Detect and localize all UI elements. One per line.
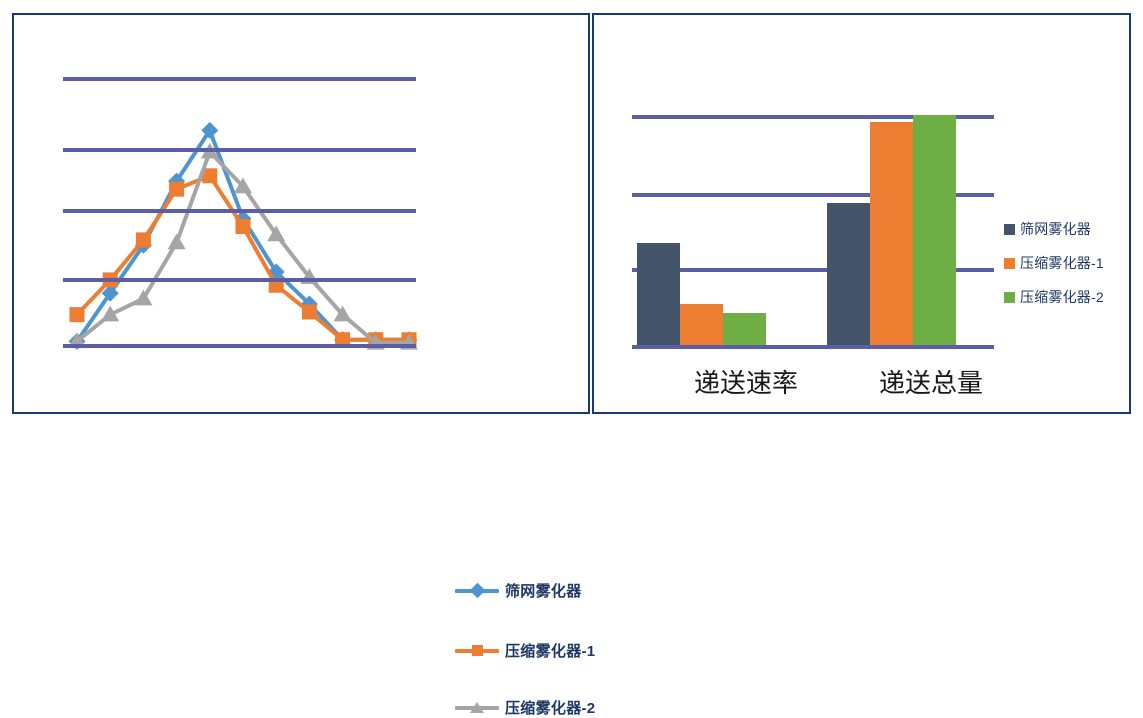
gridline <box>63 77 416 81</box>
category-label: 递送速率 <box>694 363 798 400</box>
data-point-marker <box>134 290 152 306</box>
bar-chart-panel: 递送速率递送总量 筛网雾化器压缩雾化器-1压缩雾化器-2 <box>592 13 1131 414</box>
bar-column[interactable] <box>913 115 956 345</box>
line-chart-series-layer <box>14 15 580 412</box>
legend-swatch <box>455 698 499 718</box>
legend-item[interactable]: 压缩雾化器-2 <box>1004 287 1104 307</box>
series-line <box>77 176 409 340</box>
legend-color-swatch <box>1004 258 1015 269</box>
data-point-marker <box>136 232 151 247</box>
data-point-marker <box>168 234 186 250</box>
legend-swatch <box>455 581 499 601</box>
legend-marker-square-icon <box>472 645 483 656</box>
legend-label: 压缩雾化器-2 <box>1020 287 1104 307</box>
legend-swatch <box>455 641 499 661</box>
x-axis-line <box>632 345 994 349</box>
legend-marker-triangle-icon <box>470 702 484 713</box>
legend-label: 压缩雾化器-1 <box>1020 253 1104 273</box>
legend-color-swatch <box>1004 292 1015 303</box>
line-series <box>69 122 418 350</box>
line-series <box>70 168 417 347</box>
bar-chart-plot-area: 递送速率递送总量 筛网雾化器压缩雾化器-1压缩雾化器-2 <box>594 15 1129 412</box>
bar-column[interactable] <box>827 203 870 345</box>
bar-column[interactable] <box>870 122 913 345</box>
legend-item[interactable]: 压缩雾化器-1 <box>455 640 595 661</box>
line-chart-plot-area: 筛网雾化器压缩雾化器-1压缩雾化器-2 <box>14 15 588 412</box>
legend-label: 筛网雾化器 <box>1020 219 1091 239</box>
gridline <box>63 209 416 213</box>
legend-color-swatch <box>1004 224 1015 235</box>
gridline <box>63 148 416 152</box>
bar-column[interactable] <box>723 313 766 345</box>
legend-item[interactable]: 筛网雾化器 <box>1004 219 1091 239</box>
data-point-marker <box>169 182 184 197</box>
category-label: 递送总量 <box>879 363 983 400</box>
data-point-marker <box>302 304 317 319</box>
figure-canvas: 筛网雾化器压缩雾化器-1压缩雾化器-2 递送速率递送总量 筛网雾化器压缩雾化器-… <box>0 0 1143 426</box>
legend-item[interactable]: 压缩雾化器-2 <box>455 697 595 718</box>
legend-label: 压缩雾化器-1 <box>505 640 595 661</box>
data-point-marker <box>70 307 85 322</box>
legend-item[interactable]: 压缩雾化器-1 <box>1004 253 1104 273</box>
gridline <box>63 344 416 348</box>
bar-column[interactable] <box>680 304 723 345</box>
legend-label: 压缩雾化器-2 <box>505 697 595 718</box>
line-chart-panel: 筛网雾化器压缩雾化器-1压缩雾化器-2 <box>12 13 590 414</box>
bar-column[interactable] <box>637 243 680 345</box>
data-point-marker <box>236 219 251 234</box>
gridline <box>63 278 416 282</box>
legend-item[interactable]: 筛网雾化器 <box>455 580 582 601</box>
line-series <box>68 143 418 350</box>
series-line <box>77 130 409 341</box>
legend-marker-diamond-icon <box>469 583 485 599</box>
legend-label: 筛网雾化器 <box>505 580 582 601</box>
